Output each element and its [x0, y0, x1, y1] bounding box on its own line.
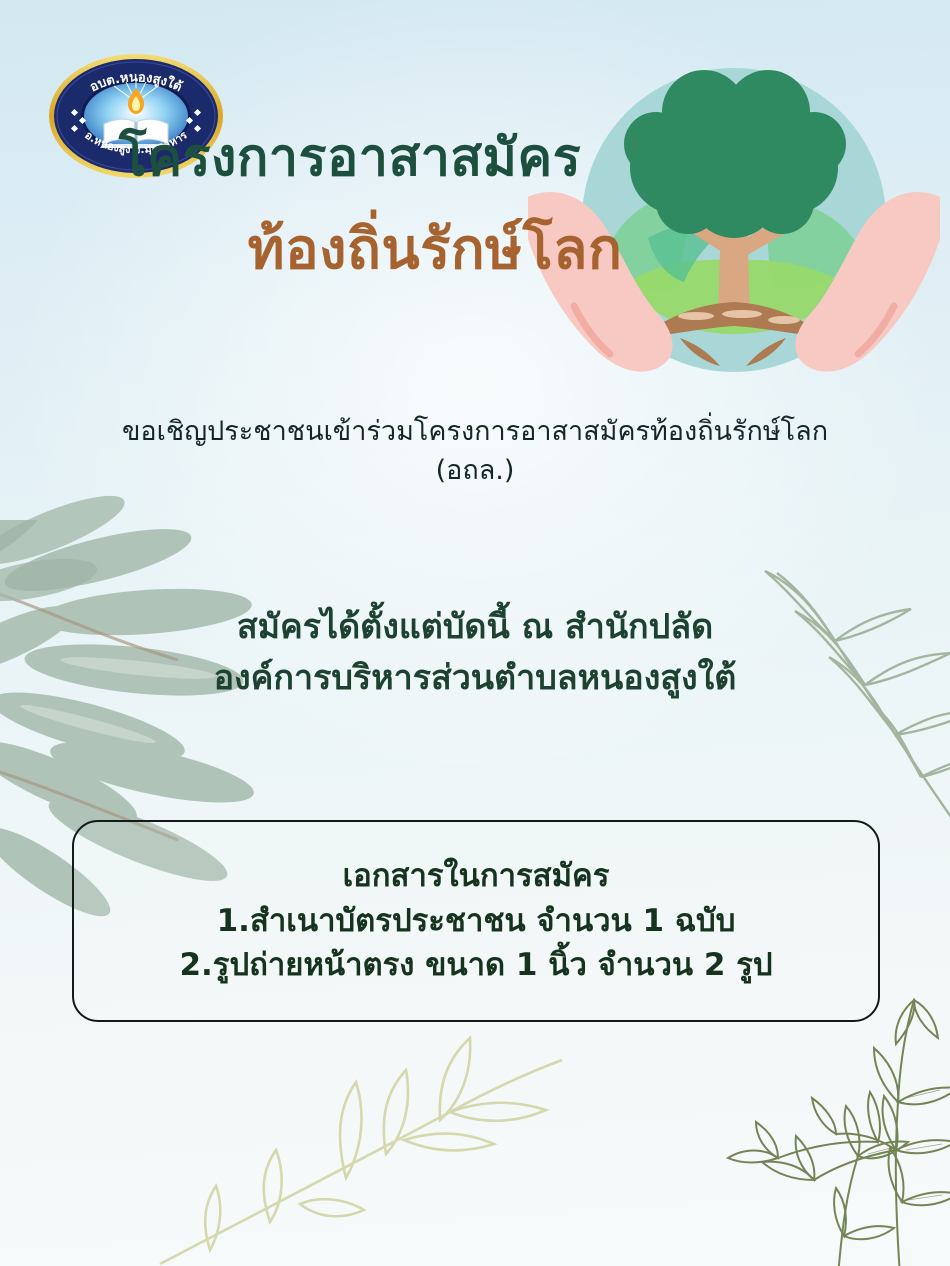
location-line-1: สมัครได้ตั้งแต่บัดนี้ ณ สำนักปลัด — [0, 602, 950, 653]
location-line-2: องค์การบริหารส่วนตำบลหนองสูงใต้ — [0, 653, 950, 704]
page-title-line-2: ท้องถิ่นรักษ์โลก — [170, 222, 700, 278]
invitation-line-1: ขอเชิญประชาชนเข้าร่วมโครงการอาสาสมัครท้อ… — [0, 412, 950, 451]
poster-canvas: อบต.หนองสูงใต้ อ.หนองสูง จ.มุกดาหาร — [0, 0, 950, 1266]
document-item-2: 2.รูปถ่ายหน้าตรง ขนาด 1 นิ้ว จำนวน 2 รูป — [179, 943, 772, 988]
required-documents-box: เอกสารในการสมัคร 1.สำเนาบัตรประชาชน จำนว… — [72, 820, 880, 1022]
decor-leaf-top-left — [0, 470, 162, 620]
application-location-text: สมัครได้ตั้งแต่บัดนี้ ณ สำนักปลัด องค์กา… — [0, 602, 950, 704]
documents-heading: เอกสารในการสมัคร — [343, 854, 610, 899]
document-item-1: 1.สำเนาบัตรประชาชน จำนวน 1 ฉบับ — [217, 899, 736, 944]
page-title-line-1: โครงการอาสาสมัคร — [0, 132, 700, 184]
invitation-line-2: (อถล.) — [0, 451, 950, 490]
decor-sprig-bottom-center — [150, 1026, 570, 1266]
title-block: โครงการอาสาสมัคร ท้องถิ่นรักษ์โลก — [0, 132, 700, 278]
decor-herbs-bottom-right — [718, 998, 950, 1266]
invitation-text: ขอเชิญประชาชนเข้าร่วมโครงการอาสาสมัครท้อ… — [0, 412, 950, 490]
